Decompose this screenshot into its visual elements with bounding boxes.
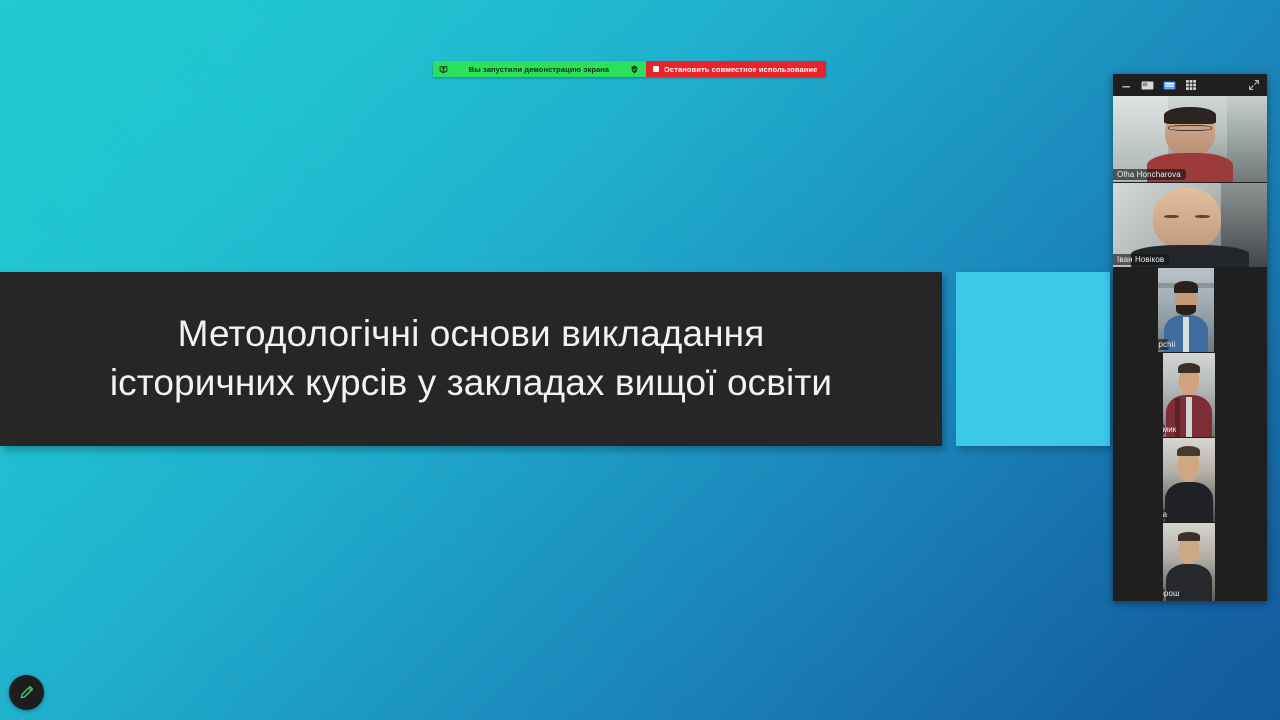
participant-tile-list: Olha Honcharova Іван Новіков <box>1113 96 1267 601</box>
participant-name: Иван Середа <box>1163 510 1167 519</box>
annotate-button[interactable] <box>9 675 44 710</box>
participant-name: Olha Honcharova <box>1117 170 1181 179</box>
screen-share-toolbar: Вы запустили демонстрацию экрана Останов… <box>433 61 826 77</box>
participant-name-tag: Daniil Topchii <box>1158 339 1169 350</box>
participant-name: Юрій Климик <box>1163 425 1176 434</box>
participant-name-tag: Іван Новіков <box>1113 254 1169 265</box>
screen-share-icon <box>439 65 448 74</box>
slide-title: Методологічні основи викладання історичн… <box>91 310 851 408</box>
pen-annotate-icon <box>18 684 35 701</box>
expand-fullscreen-icon[interactable] <box>1248 79 1260 91</box>
participant-name-tag: Иван Середа <box>1163 509 1165 520</box>
participant-tile[interactable]: Юрій Климик <box>1163 353 1215 437</box>
slide-accent-block <box>956 272 1110 446</box>
participant-name-tag: Сергій Дорош <box>1163 588 1165 599</box>
participant-tile[interactable]: Daniil Topchii <box>1158 268 1214 352</box>
participant-tile[interactable]: Іван Новіков <box>1113 183 1267 267</box>
participant-name: Сергій Дорош <box>1163 589 1180 598</box>
participant-name-tag: Юрій Климик <box>1163 424 1165 435</box>
share-status-text: Вы запустили демонстрацию экрана <box>454 65 624 74</box>
gallery-view-icon[interactable] <box>1163 80 1176 91</box>
video-feed <box>1163 438 1215 522</box>
participant-name: Daniil Topchii <box>1158 340 1175 349</box>
security-shield-icon[interactable] <box>630 65 639 74</box>
grid-view-icon[interactable] <box>1185 79 1197 91</box>
participant-name-tag: Olha Honcharova <box>1113 169 1186 180</box>
minimize-icon[interactable] <box>1121 80 1132 91</box>
stop-sharing-label: Остановить совместное использование <box>664 65 817 74</box>
zoom-participant-panel[interactable]: Olha Honcharova Іван Новіков <box>1113 74 1267 601</box>
participant-tile[interactable]: Olha Honcharova <box>1113 96 1267 182</box>
zoom-panel-toolbar <box>1113 74 1267 96</box>
stop-sharing-button[interactable]: Остановить совместное использование <box>646 61 826 77</box>
participant-tile[interactable]: Сергій Дорош <box>1163 523 1215 601</box>
participant-name: Іван Новіков <box>1117 255 1164 264</box>
slide-title-box: Методологічні основи викладання історичн… <box>0 272 942 446</box>
speaker-view-icon[interactable] <box>1141 80 1154 91</box>
stop-square-icon <box>653 66 659 72</box>
participant-tile[interactable]: Иван Середа <box>1163 438 1215 522</box>
share-status-banner: Вы запустили демонстрацию экрана <box>433 61 646 77</box>
